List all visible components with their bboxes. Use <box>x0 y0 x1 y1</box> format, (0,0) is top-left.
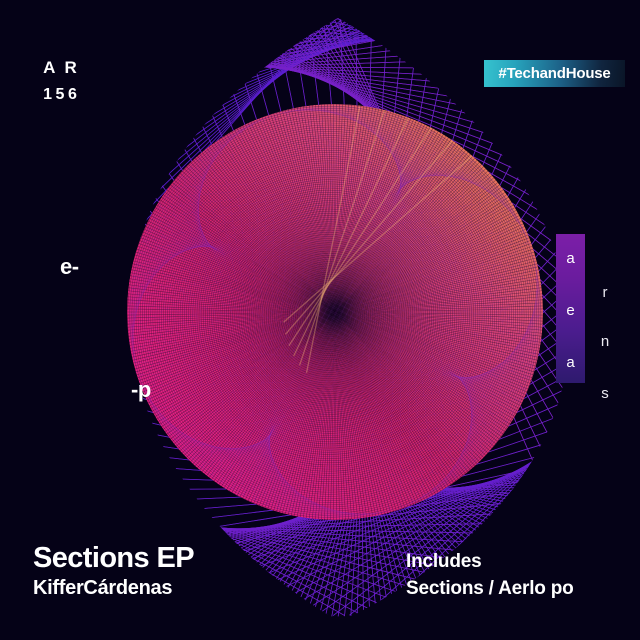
tracks-block: Includes Sections / Aerlo po <box>406 552 574 598</box>
outer-letter-2: s <box>596 386 614 401</box>
title-block: Sections EP KifferCárdenas <box>33 544 194 598</box>
outer-letter-0: r <box>596 285 614 300</box>
vertical-letter-2: a <box>556 355 585 370</box>
catalog-block: A R 156 <box>32 52 88 104</box>
annotation-left-bottom: -p <box>131 379 151 401</box>
album-cover: A R 156 #TechandHouse a e a r n s e- -p … <box>0 0 640 640</box>
album-title: Sections EP <box>33 544 194 573</box>
catalog-badge: A R <box>32 52 88 83</box>
vertical-letter-1: e <box>556 303 585 318</box>
outer-letter-1: n <box>596 334 614 349</box>
album-artist: KifferCárdenas <box>33 578 194 598</box>
vertical-letter-bar: a e a <box>556 234 585 383</box>
tracks-heading: Includes <box>406 552 574 571</box>
hashtag-bar: #TechandHouse <box>484 60 625 87</box>
catalog-number: 156 <box>32 86 88 104</box>
annotation-left-top: e- <box>60 256 79 278</box>
tracks-list: Sections / Aerlo po <box>406 579 574 598</box>
circle-line-field <box>117 94 553 530</box>
hashtag-label: #TechandHouse <box>498 66 610 81</box>
catalog-badge-label: A R <box>41 59 80 76</box>
vertical-letter-0: a <box>556 251 585 266</box>
